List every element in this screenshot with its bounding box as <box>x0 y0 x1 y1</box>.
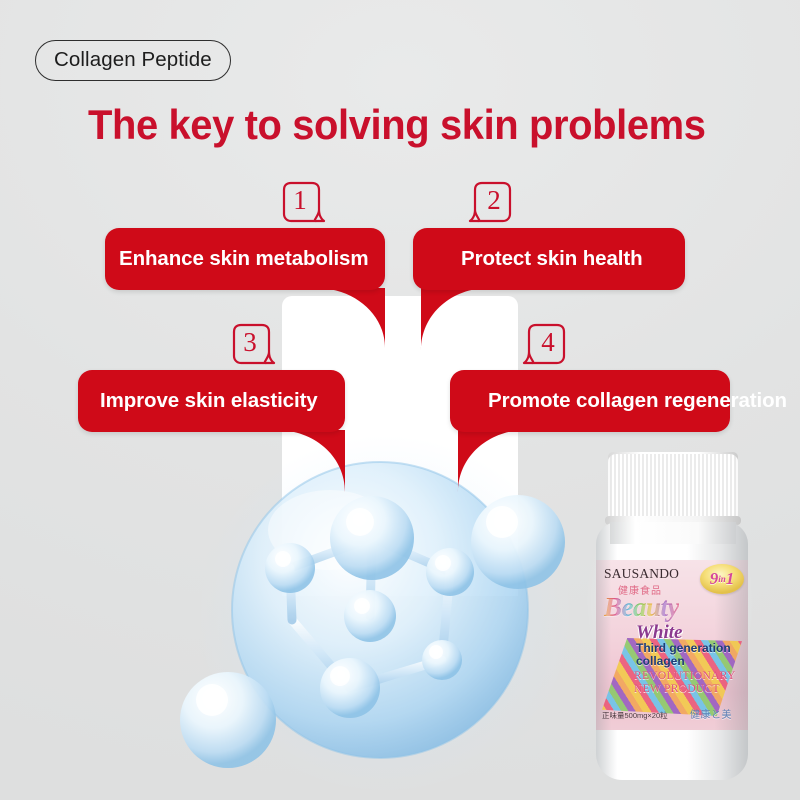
benefit-number-badge-1: 1 <box>278 180 328 226</box>
label-descriptor: Third generation collagen <box>636 642 748 667</box>
label-tagline-line1: REVOLUTIONARY <box>634 670 736 683</box>
label-tagline: REVOLUTIONARY NEW PRODUCT <box>634 670 736 696</box>
benefit-number-2: 2 <box>472 180 516 220</box>
callout-1-label: Enhance skin metabolism <box>119 228 399 290</box>
benefit-number-1: 1 <box>278 180 322 220</box>
benefit-callout-3[interactable]: Improve skin elasticity <box>78 370 378 500</box>
label-tagline-line2: NEW PRODUCT <box>634 683 736 696</box>
label-9in1-nine: 9 <box>710 569 719 589</box>
label-9in1-badge: 9in1 <box>700 564 744 594</box>
label-product-name: Beauty <box>604 592 679 623</box>
bottle-label: SAUSANDO 健康食品 Beauty White Third generat… <box>596 560 748 730</box>
category-badge: Collagen Peptide <box>35 40 231 81</box>
callout-2-label: Protect skin health <box>461 228 733 290</box>
bottle-neck <box>610 522 736 544</box>
callout-3-label: Improve skin elasticity <box>100 370 367 432</box>
benefit-number-3: 3 <box>228 322 272 362</box>
benefit-number-badge-3: 3 <box>228 322 278 368</box>
poster-canvas: SAUSANDO 健康食品 Beauty White Third generat… <box>0 0 800 800</box>
label-9in1-in: in <box>718 574 726 584</box>
benefit-number-badge-2: 2 <box>466 180 516 226</box>
benefit-number-badge-4: 4 <box>520 322 570 368</box>
label-9in1-text: 9in1 <box>700 564 744 594</box>
label-footer-japanese: 健康と美 <box>690 706 732 721</box>
benefit-callout-4[interactable]: Promote collagen regeneration <box>450 370 750 500</box>
page-title: The key to solving skin problems <box>88 101 734 149</box>
label-net-content: 正味量500mg×20粒 <box>602 710 668 721</box>
benefit-number-4: 4 <box>526 322 570 362</box>
label-brand: SAUSANDO <box>604 566 679 582</box>
label-9in1-one: 1 <box>726 569 735 589</box>
callout-4-label: Promote collagen regeneration <box>488 370 768 432</box>
